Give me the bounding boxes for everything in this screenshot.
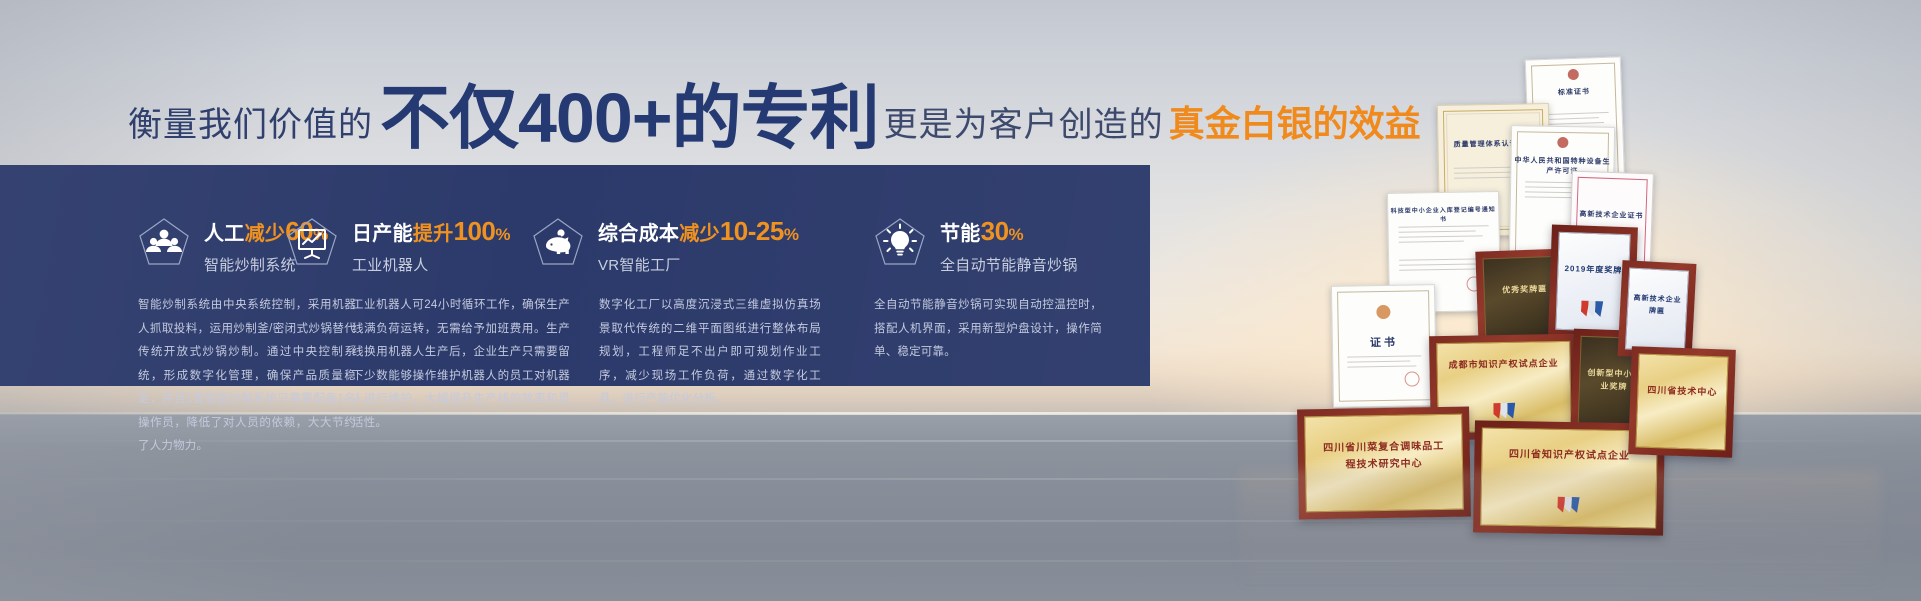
feature-item: 综合成本减少10-25% VR智能工厂 数字化工厂以高度沉浸式三维虚拟仿真场景取… (531, 165, 814, 386)
headline-emphasis: 不仅400+的专利 (373, 83, 884, 153)
plaque-text: 2019年度奖牌 (1564, 262, 1623, 278)
feature-title-label: 节能 (940, 223, 981, 245)
banner-stage: 衡量我们价值的 不仅400+的专利 更是为客户创造的 真金白银的效益 (0, 0, 1921, 601)
ribbon-icon (1493, 402, 1515, 418)
feature-title-unit: % (495, 225, 510, 244)
headline-prefix: 衡量我们价值的 (128, 97, 373, 146)
chart-presentation-icon (285, 216, 339, 270)
people-group-icon (137, 216, 191, 270)
plaque-plate: 高新技术企业牌匾 (1625, 267, 1689, 352)
feature-subtitle: 工业机器人 (352, 254, 511, 275)
feature-title-unit: % (1009, 225, 1024, 244)
feature-header: 日产能提升100% 工业机器人 (285, 215, 531, 275)
feature-title-label: 人工 (204, 223, 245, 245)
feature-text: 综合成本减少10-25% VR智能工厂 (598, 215, 799, 275)
feature-title-label: 综合成本 (598, 223, 679, 245)
plaque-text: 四川省川菜复合调味品工程技术研究中心 (1318, 437, 1450, 473)
plaque-item: 四川省川菜复合调味品工程技术研究中心 (1297, 407, 1471, 520)
feature-title: 节能30% (940, 218, 1078, 244)
feature-header: 人工减少60% 智能炒制系统 (137, 215, 272, 275)
ribbon-icon (1581, 300, 1604, 317)
feature-title-unit: % (784, 225, 799, 244)
plaque-item: 高新技术企业牌匾 (1618, 260, 1697, 360)
plaque-text: 成都市知识产权试点企业 (1448, 356, 1559, 373)
certificate-title: 证书 (1333, 333, 1435, 351)
feature-item: 日产能提升100% 工业机器人 工业机器人可24小时循环工作，确保生产线满负荷运… (272, 165, 531, 386)
piggy-bank-icon (531, 216, 585, 270)
feature-text: 节能30% 全自动节能静音炒锅 (940, 215, 1078, 275)
certificate-item: 证书 (1331, 284, 1437, 408)
plaque-text: 四川省技术中心 (1645, 382, 1719, 400)
plaque-text: 四川省知识产权试点企业 (1496, 446, 1642, 466)
plaque-plate: 四川省技术中心 (1635, 353, 1728, 450)
plaque-text: 高新技术企业牌匾 (1632, 293, 1682, 319)
feature-title: 综合成本减少10-25% (598, 218, 799, 244)
feature-title-value: 100 (454, 216, 496, 246)
certificate-seal (1404, 371, 1419, 386)
feature-header: 节能30% 全自动节能静音炒锅 (873, 215, 1150, 275)
feature-title-action: 提升 (413, 223, 454, 245)
feature-title-value: 30 (981, 216, 1009, 246)
certificates-pile: 标准证书 质量管理体系认证证书 中华人民共和国特种设备生产许可证 高新技术企业证… (1180, 30, 1921, 550)
feature-title-action: 减少 (679, 223, 720, 245)
feature-subtitle: VR智能工厂 (598, 254, 799, 275)
feature-text: 日产能提升100% 工业机器人 (352, 215, 511, 275)
certificate-lines (1347, 355, 1421, 371)
feature-item: 人工减少60% 智能炒制系统 智能炒制系统由中央系统控制，采用机器人抓取投料，运… (0, 165, 272, 386)
feature-subtitle: 全自动节能静音炒锅 (940, 254, 1078, 275)
water-streak (0, 560, 1921, 562)
plaque-plate: 四川省川菜复合调味品工程技术研究中心 (1304, 414, 1464, 513)
feature-title-value: 10-25 (720, 216, 784, 246)
plaque-item: 四川省技术中心 (1628, 346, 1736, 458)
feature-body: 数字化工厂以高度沉浸式三维虚拟仿真场景取代传统的二维平面图纸进行整体布局规划，工… (599, 294, 821, 412)
features-list: 人工减少60% 智能炒制系统 智能炒制系统由中央系统控制，采用机器人抓取投料，运… (0, 165, 1150, 386)
feature-body: 全自动节能静音炒锅可实现自动控温控时，搭配人机界面，采用新型炉盘设计，操作简单、… (874, 294, 1102, 365)
ribbon-icon (1557, 496, 1579, 512)
certificate-lines (1398, 225, 1489, 247)
feature-header: 综合成本减少10-25% VR智能工厂 (531, 215, 814, 275)
plaque-text: 优秀奖牌匾 (1491, 281, 1559, 297)
lightbulb-icon (873, 216, 927, 270)
feature-item: 节能30% 全自动节能静音炒锅 全自动节能静音炒锅可实现自动控温控时，搭配人机界… (814, 165, 1150, 386)
feature-title: 日产能提升100% (352, 218, 511, 244)
headline-middle: 更是为客户创造的 (884, 97, 1164, 146)
certificate-title: 科技型中小企业入库登记编号通知书 (1388, 204, 1498, 224)
feature-title-label: 日产能 (352, 223, 413, 245)
